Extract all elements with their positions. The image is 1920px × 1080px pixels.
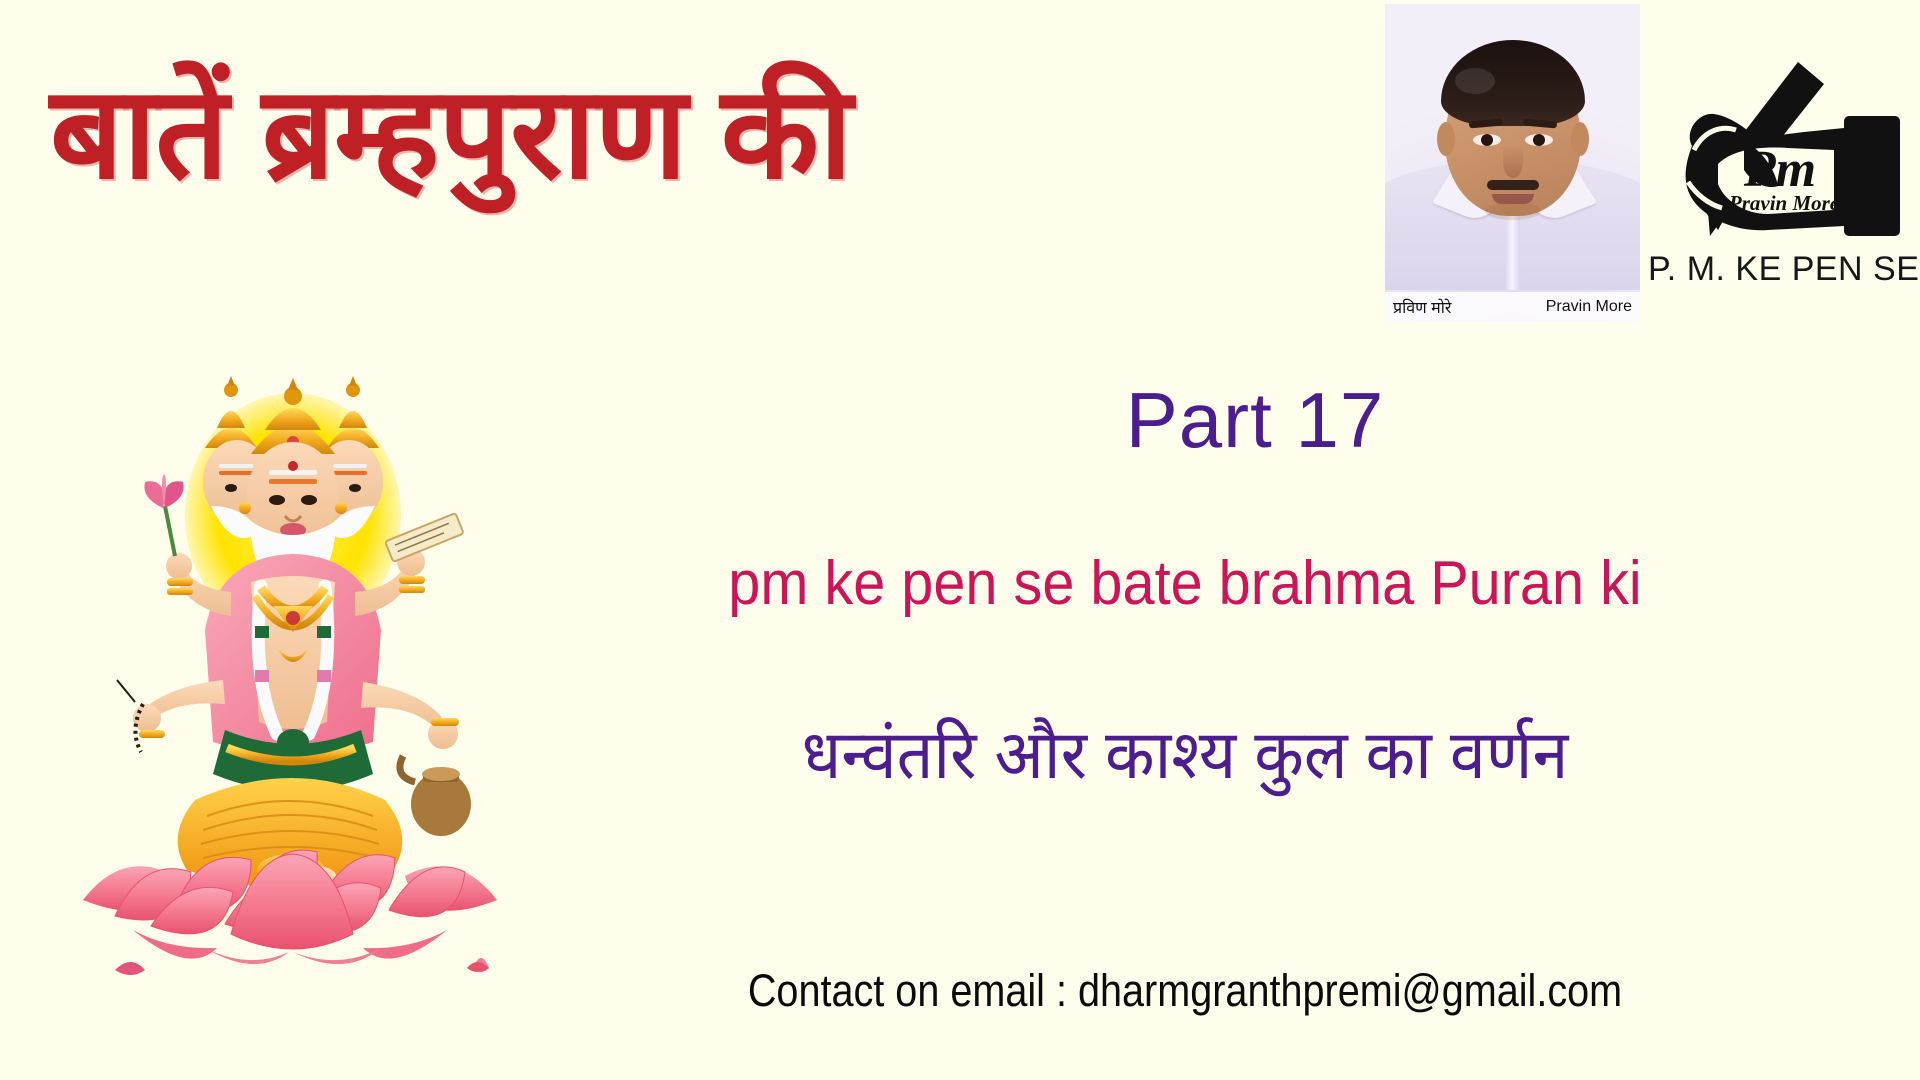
ear-left	[1437, 122, 1455, 156]
lotus-seat	[83, 850, 497, 964]
eye-right	[1525, 134, 1553, 146]
logo-monogram-text: Pm	[1743, 141, 1816, 198]
logo-wordmark: P. M. KE PEN SE	[1648, 250, 1910, 289]
kamandalu-pot	[400, 756, 471, 836]
photo-caption-bar: प्रविण मोरे Pravin More	[1385, 292, 1640, 322]
photo-caption-english: Pravin More	[1546, 298, 1632, 316]
contact-email-line: Contact on email : dharmgranthpremi@gmai…	[556, 965, 1814, 1017]
ear-right	[1571, 122, 1589, 156]
lotus-stem	[165, 506, 175, 556]
lotus-fragment-left	[115, 962, 145, 975]
moustache-shape	[1487, 180, 1539, 190]
thumbnail-canvas: बातें ब्रम्हपुराण की प्रविण मोरे Pravin …	[0, 0, 1920, 1080]
chin-shadow	[1485, 202, 1541, 220]
nose-shape	[1503, 146, 1523, 178]
lotus-flower-in-hand	[144, 474, 183, 508]
part-number-label: Part 17	[640, 375, 1870, 466]
subtitle-english: pm ke pen se bate brahma Puran ki	[520, 548, 1850, 619]
eye-left	[1473, 134, 1501, 146]
lord-brahma-illustration	[55, 330, 525, 980]
brand-logo: Pm Pravin More P. M. KE PEN SE	[1648, 54, 1910, 316]
photo-caption-hindi: प्रविण मोरे	[1393, 296, 1451, 318]
subtitle-hindi: धन्वंतरि और काश्य कुल का वर्णन	[506, 705, 1865, 798]
logo-script-name: Pravin More	[1728, 191, 1839, 215]
hand-with-pen-icon: Pm Pravin More	[1648, 54, 1910, 254]
page-title: बातें ब्रम्हपुराण की	[50, 70, 1390, 198]
author-photo: प्रविण मोरे Pravin More	[1385, 4, 1640, 322]
lotus-bud-right	[467, 958, 489, 972]
